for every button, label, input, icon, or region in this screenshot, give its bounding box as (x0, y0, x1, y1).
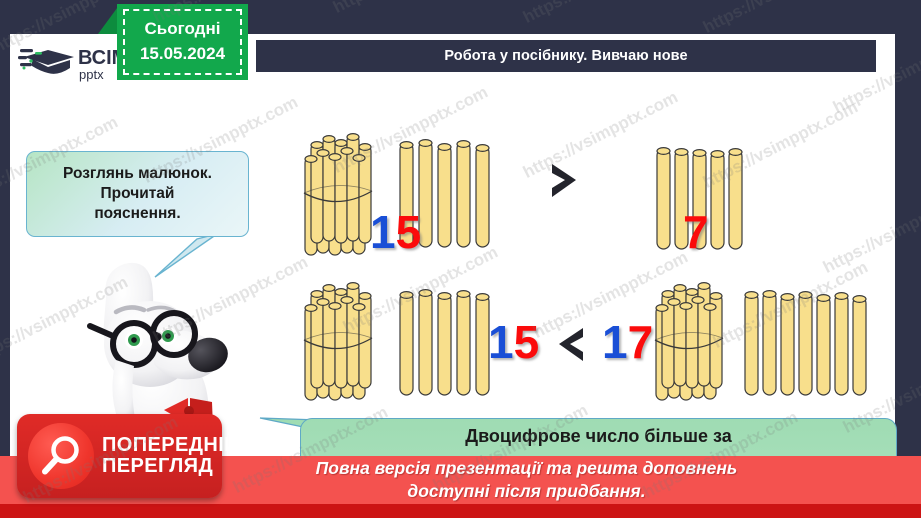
row2-right-number: 17 (602, 319, 653, 365)
row1-left-tens-digit: 1 (370, 206, 396, 258)
slide-viewer: ВСІМ pptx Робота у посібнику. Вивчаю нов… (0, 0, 921, 518)
row2-right-tens-digit: 1 (602, 316, 628, 368)
instruction-bubble: Розглянь малюнок. Прочитай пояснення. (26, 151, 249, 237)
purchase-notice-footer-bar (0, 504, 921, 518)
row2-comparison-sign: < (555, 324, 589, 368)
purchase-notice-text: Повна версія презентації та решта доповн… (158, 454, 895, 506)
instruction-line-2: Прочитай (101, 185, 175, 202)
today-badge: Сьогодні 15.05.2024 (117, 4, 248, 80)
row2-right-ones-digit: 7 (628, 316, 654, 368)
row1-comparison-sign: > (548, 160, 582, 204)
window-frame-left (0, 0, 10, 518)
preview-button[interactable]: ПОПЕРЕДНІЙ ПЕРЕГЛЯД (17, 414, 222, 498)
row2-right-bundle (654, 278, 724, 409)
instruction-bubble-tail (153, 233, 219, 279)
instruction-line-3: пояснення. (94, 205, 180, 222)
preview-button-labels: ПОПЕРЕДНІЙ ПЕРЕГЛЯД (102, 435, 239, 476)
row1-right-ones-digit: 7 (683, 206, 709, 258)
row1-left-ones-digit: 5 (396, 206, 422, 258)
row2-left-ones-digit: 5 (514, 316, 540, 368)
instruction-line-1: Розглянь малюнок. (63, 165, 212, 182)
row2-left-tens-digit: 1 (488, 316, 514, 368)
row2-right-loose-sticks (743, 289, 873, 404)
today-badge-label: Сьогодні (145, 17, 221, 42)
preview-button-line-1: ПОПЕРЕДНІЙ (102, 435, 239, 456)
window-frame-right (895, 0, 921, 518)
row2-left-number: 15 (488, 319, 539, 365)
bundle-of-ten-icon (654, 278, 724, 404)
row1-right-number: 7 (683, 209, 709, 255)
slide-title-bar: Робота у посібнику. Вивчаю нове (256, 40, 876, 72)
row1-left-number: 15 (370, 209, 421, 255)
bundle-of-ten-icon (303, 278, 373, 404)
row2-left-bundle (303, 278, 373, 409)
purchase-notice-line-1: Повна версія презентації та решта доповн… (316, 457, 738, 480)
bundle-of-ten-icon (303, 129, 373, 259)
slide-title: Робота у посібнику. Вивчаю нове (444, 48, 687, 64)
graduation-cap-icon (18, 49, 74, 74)
magnifier-icon (28, 423, 94, 489)
loose-sticks-group-icon (398, 289, 490, 399)
row1-left-bundle (303, 129, 373, 264)
preview-button-line-2: ПЕРЕГЛЯД (102, 456, 239, 477)
row2-left-loose-sticks (398, 289, 490, 404)
explanation-line-1: Двоцифрове число більше за (301, 426, 896, 447)
logo-sub-text: pptx (79, 67, 104, 82)
today-badge-date: 15.05.2024 (140, 42, 225, 67)
loose-sticks-group-icon (743, 289, 873, 399)
purchase-notice-line-2: доступні після придбання. (407, 480, 645, 503)
